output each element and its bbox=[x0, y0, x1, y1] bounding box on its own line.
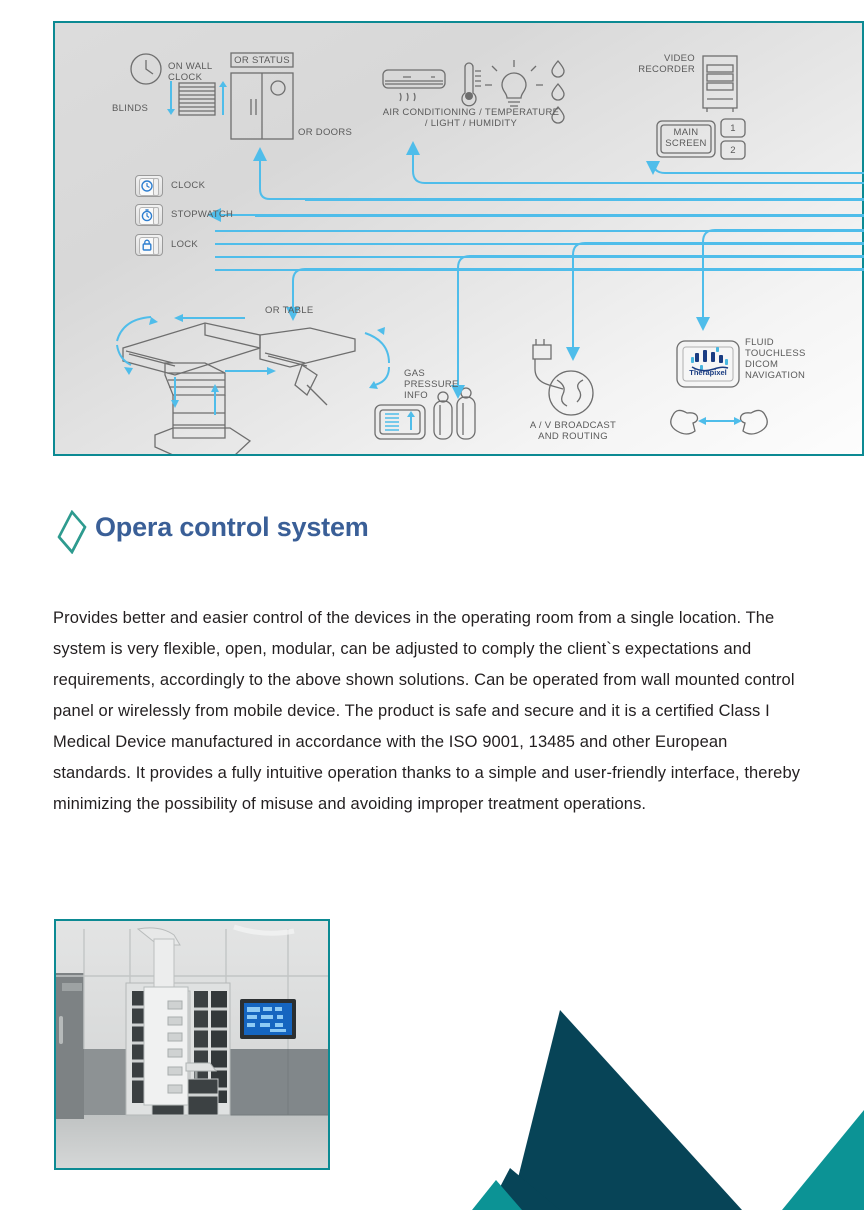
video-recorder-icon bbox=[703, 56, 737, 112]
blinds-icon bbox=[167, 81, 227, 115]
label-video-recorder: VIDEO RECORDER bbox=[629, 53, 695, 75]
label-screen-button-1[interactable]: 1 bbox=[721, 123, 745, 134]
connector-to-av bbox=[573, 243, 864, 353]
system-diagram-panel: ON WALL CLOCK BLINDS OR STATUS OR DOORS … bbox=[53, 21, 864, 456]
connector-to-or-table bbox=[293, 269, 864, 313]
label-or-status: OR STATUS bbox=[231, 55, 293, 66]
section-heading-row: Opera control system bbox=[53, 510, 813, 558]
operating-room-photo bbox=[54, 919, 330, 1170]
photo-content bbox=[56, 921, 328, 1168]
label-lock: LOCK bbox=[171, 239, 198, 250]
label-gas-pressure-info: GAS PRESSURE INFO bbox=[404, 368, 459, 401]
connector-to-main-screen bbox=[653, 161, 864, 173]
label-av-broadcast: A / V BROADCAST AND ROUTING bbox=[514, 420, 632, 442]
label-on-wall-clock: ON WALL CLOCK bbox=[168, 61, 213, 83]
label-fluid-touchless: FLUID TOUCHLESS DICOM NAVIGATION bbox=[745, 337, 806, 381]
label-or-doors: OR DOORS bbox=[298, 127, 352, 138]
label-clock: CLOCK bbox=[171, 180, 205, 191]
connector-to-air bbox=[413, 149, 864, 183]
label-air-conditioning: AIR CONDITIONING / TEMPERATURE / LIGHT /… bbox=[351, 107, 591, 129]
av-broadcast-icon bbox=[533, 339, 593, 415]
light-bulb-icon bbox=[485, 60, 543, 106]
label-screen-button-2[interactable]: 2 bbox=[721, 145, 745, 156]
on-wall-clock-icon bbox=[131, 54, 161, 84]
page-title: Opera control system bbox=[95, 512, 369, 543]
lock-icon-button[interactable] bbox=[135, 234, 163, 256]
connector-to-or-doors bbox=[260, 155, 864, 199]
stopwatch-button-ridge bbox=[153, 207, 159, 225]
corner-decoration bbox=[452, 998, 864, 1210]
dark-triangle-large bbox=[510, 1010, 742, 1210]
stopwatch-icon-button[interactable] bbox=[135, 204, 163, 226]
lock-button-ridge bbox=[153, 237, 159, 255]
label-or-table: OR TABLE bbox=[265, 305, 314, 316]
clock-icon-button[interactable] bbox=[135, 175, 163, 197]
label-blinds: BLINDS bbox=[112, 103, 148, 114]
teal-triangle-right bbox=[782, 1110, 864, 1210]
air-conditioner-icon bbox=[383, 70, 445, 101]
label-stopwatch: STOPWATCH bbox=[171, 209, 233, 220]
label-main-screen: MAIN SCREEN bbox=[657, 127, 715, 149]
thermometer-icon bbox=[462, 63, 481, 106]
label-therapixel-brand: Therapixel bbox=[683, 368, 733, 377]
section-paragraph: Provides better and easier control of th… bbox=[53, 603, 803, 820]
or-table-illustration bbox=[117, 314, 389, 455]
diamond-check-icon bbox=[56, 510, 88, 554]
clock-button-ridge bbox=[153, 178, 159, 196]
